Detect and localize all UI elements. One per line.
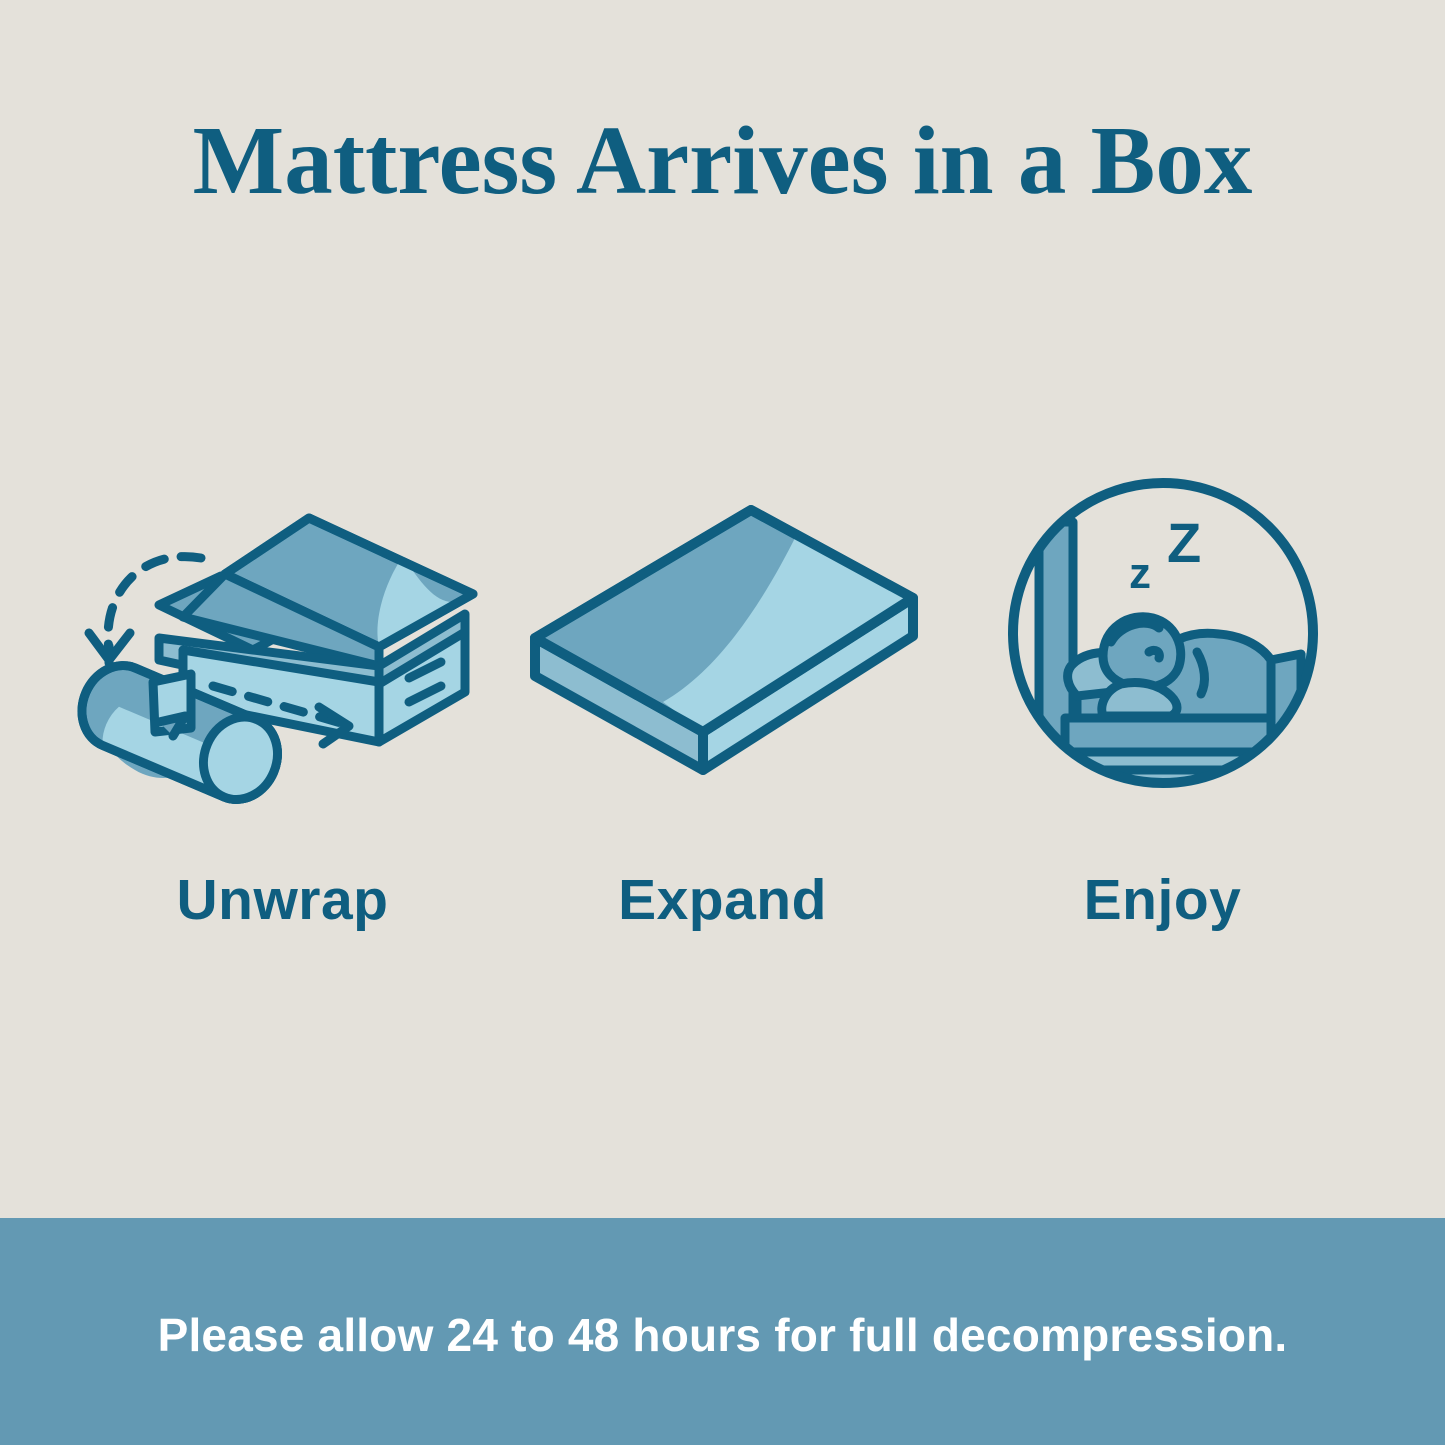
z-large-icon: Z [1167, 511, 1201, 574]
person-sleeping-in-bed-icon: z Z [953, 470, 1373, 810]
flat-mattress-slab-icon [513, 470, 933, 810]
step-enjoy: z Z Enjoy [943, 470, 1383, 929]
z-small-icon: z [1129, 549, 1151, 598]
footer-banner: Please allow 24 to 48 hours for full dec… [0, 1218, 1445, 1445]
steps-row: Unwrap Expand [0, 470, 1445, 970]
step-expand: Expand [503, 470, 943, 929]
page-title: Mattress Arrives in a Box [0, 112, 1445, 209]
step-unwrap: Unwrap [63, 470, 503, 929]
step-label-enjoy: Enjoy [1084, 872, 1242, 929]
decompression-note: Please allow 24 to 48 hours for full dec… [158, 1308, 1288, 1362]
infographic-page: Mattress Arrives in a Box [0, 0, 1445, 1445]
box-with-rolled-mattress-icon [73, 470, 493, 810]
step-label-unwrap: Unwrap [176, 872, 388, 929]
step-label-expand: Expand [618, 872, 827, 929]
